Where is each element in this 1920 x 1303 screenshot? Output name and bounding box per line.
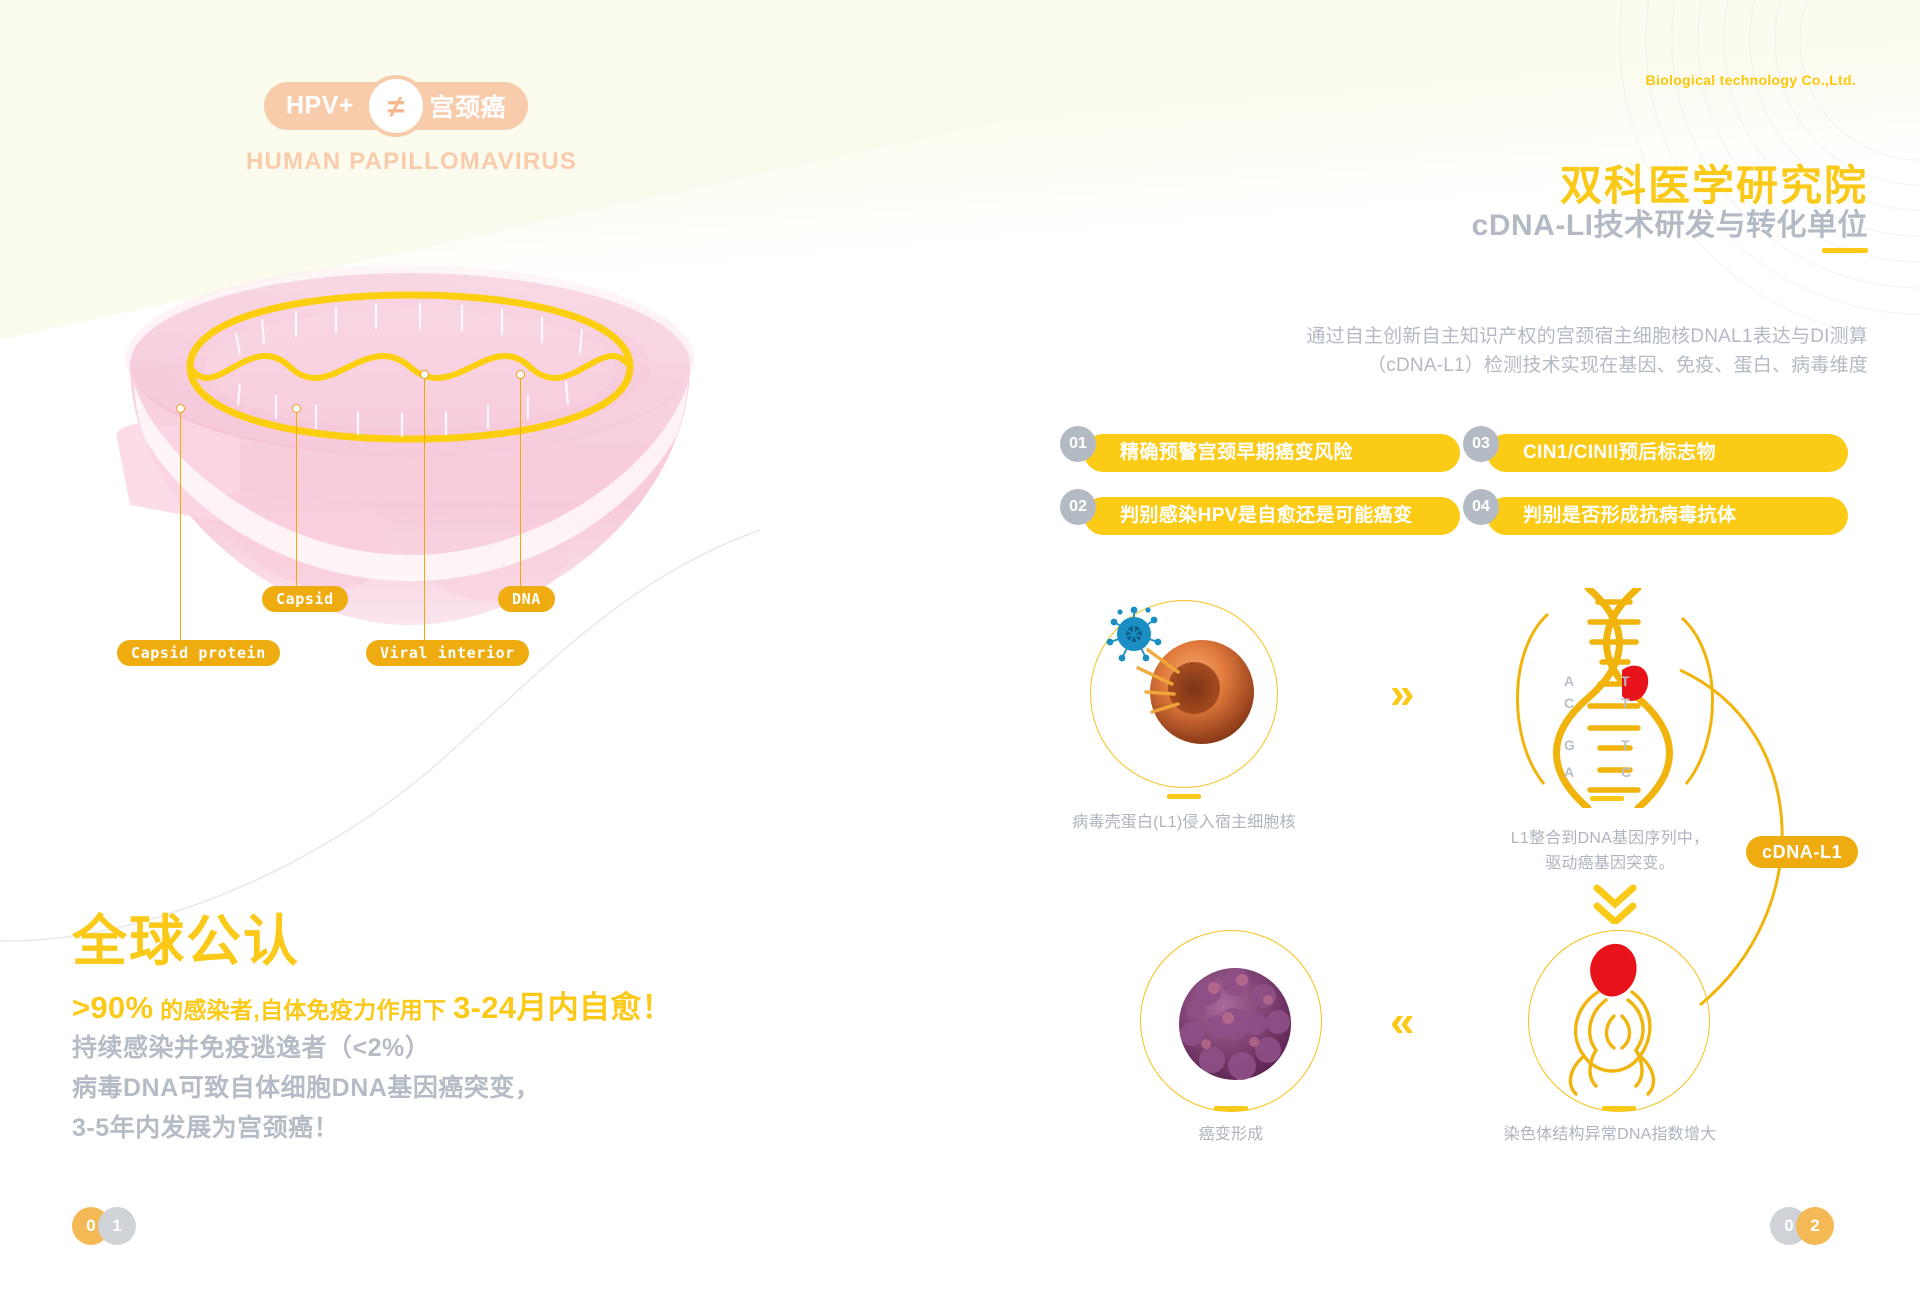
feature-text-04: 判别是否形成抗病毒抗体 xyxy=(1523,497,1736,535)
institute-subtitle: cDNA-LI技术研发与转化单位 xyxy=(1472,200,1868,244)
feature-item-01[interactable]: 01 精确预警宫颈早期癌变风险 xyxy=(1060,434,1460,472)
title-underline-rule xyxy=(1822,248,1868,253)
callout-label-dna: DNA xyxy=(498,586,555,612)
feature-text-02: 判别感染HPV是自愈还是可能癌变 xyxy=(1120,497,1412,535)
callout-label-capsid-protein: Capsid protein xyxy=(117,640,280,666)
paragraph-line-2: 病毒DNA可致自体细胞DNA基因癌突变， xyxy=(72,1068,540,1108)
step2-caption-rule xyxy=(1590,796,1624,801)
feature-number-01: 01 xyxy=(1060,426,1096,462)
feature-number-04: 04 xyxy=(1463,489,1499,525)
institute-description: 通过自主创新自主知识产权的宫颈宿主细胞核DNAL1表达与DI测算 （cDNA-L… xyxy=(1268,322,1868,380)
arrow-left-icon: « xyxy=(1390,1000,1408,1044)
not-equal-glyph: ≠ xyxy=(387,91,404,122)
description-line-2: （cDNA-L1）检测技术实现在基因、免疫、蛋白、病毒维度 xyxy=(1268,351,1868,380)
arrow-right-icon: » xyxy=(1390,672,1408,716)
dna-base-right-1: T xyxy=(1621,673,1630,689)
persistent-infection-paragraph: 持续感染并免疫逃逸者（<2%） 病毒DNA可致自体细胞DNA基因癌突变， 3-5… xyxy=(72,1028,540,1148)
description-line-1: 通过自主创新自主知识产权的宫颈宿主细胞核DNAL1表达与DI测算 xyxy=(1268,322,1868,351)
feature-number-03: 03 xyxy=(1463,426,1499,462)
page-number-left: 0 1 xyxy=(72,1207,166,1245)
callout-line-capsid xyxy=(296,412,297,588)
page-number-right: 0 2 xyxy=(1770,1207,1864,1245)
infographic-page: HPV+ 宫颈癌 ≠ HUMAN PAPILLOMAVIRUS xyxy=(0,0,1920,1303)
arrow-down-icon xyxy=(1585,880,1645,924)
feature-item-04[interactable]: 04 判别是否形成抗病毒抗体 xyxy=(1463,497,1848,535)
paragraph-line-1: 持续感染并免疫逃逸者（<2%） xyxy=(72,1028,540,1068)
dna-base-right-4: C xyxy=(1621,764,1631,780)
callout-line-capsid-protein xyxy=(180,412,181,642)
stat-percent: >90% xyxy=(72,990,153,1025)
feature-text-03: CIN1/CINII预后标志物 xyxy=(1523,434,1716,472)
stat-duration: 3-24月内自愈！ xyxy=(453,990,673,1025)
petri-dish-illustration xyxy=(90,255,730,675)
process-step1-caption: 病毒壳蛋白(L1)侵入宿主细胞核 xyxy=(1024,810,1344,835)
stat-middle: 的感染者,自体免疫力作用下 xyxy=(160,997,446,1023)
callout-line-dna xyxy=(520,378,521,588)
dna-base-left-4: A xyxy=(1564,764,1574,780)
feature-number-02: 02 xyxy=(1060,489,1096,525)
callout-label-viral-interior: Viral interior xyxy=(366,640,529,666)
cdna-l1-badge: cDNA-L1 xyxy=(1746,836,1858,868)
step1-caption-rule xyxy=(1167,794,1201,799)
dna-base-left-2: C xyxy=(1564,695,1574,711)
feature-item-03[interactable]: 03 CIN1/CINII预后标志物 xyxy=(1463,434,1848,472)
callout-label-capsid: Capsid xyxy=(262,586,348,612)
callout-line-viral-interior xyxy=(424,378,425,642)
tumor-mass-illustration xyxy=(1150,938,1320,1108)
dna-base-right-2: T xyxy=(1621,695,1630,711)
virus-entering-cell-illustration xyxy=(1090,592,1290,792)
process-step4-caption: 癌变形成 xyxy=(1081,1122,1381,1147)
dna-base-right-3: T xyxy=(1621,737,1630,753)
not-equal-icon: ≠ xyxy=(365,75,427,137)
step4-caption-rule xyxy=(1214,1106,1248,1111)
page-right-digit-2: 2 xyxy=(1796,1207,1834,1245)
feature-item-02[interactable]: 02 判别感染HPV是自愈还是可能癌变 xyxy=(1060,497,1460,535)
global-consensus-highlight: >90% 的感染者,自体免疫力作用下 3-24月内自愈！ xyxy=(72,982,673,1027)
feature-text-01: 精确预警宫颈早期癌变风险 xyxy=(1120,434,1353,472)
badge-right-label: 宫颈癌 xyxy=(429,88,506,124)
paragraph-line-3: 3-5年内发展为宫颈癌！ xyxy=(72,1108,540,1148)
process-step3-caption: 染色体结构异常DNA指数增大 xyxy=(1450,1122,1770,1147)
global-consensus-title: 全球公认 xyxy=(72,896,300,976)
abnormal-chromosome-illustration xyxy=(1540,930,1710,1110)
hpv-subtitle: HUMAN PAPILLOMAVIRUS xyxy=(246,148,566,176)
dna-base-left-3: G xyxy=(1564,737,1575,753)
step3-caption-rule xyxy=(1602,1106,1636,1111)
corporate-tagline: Biological technology Co.,Ltd. xyxy=(1646,72,1856,88)
dna-base-left-1: A xyxy=(1564,673,1574,689)
page-left-digit-2: 1 xyxy=(98,1207,136,1245)
hpv-comparison-badge: HPV+ 宫颈癌 ≠ xyxy=(264,82,528,130)
badge-left-label: HPV+ xyxy=(286,92,354,121)
